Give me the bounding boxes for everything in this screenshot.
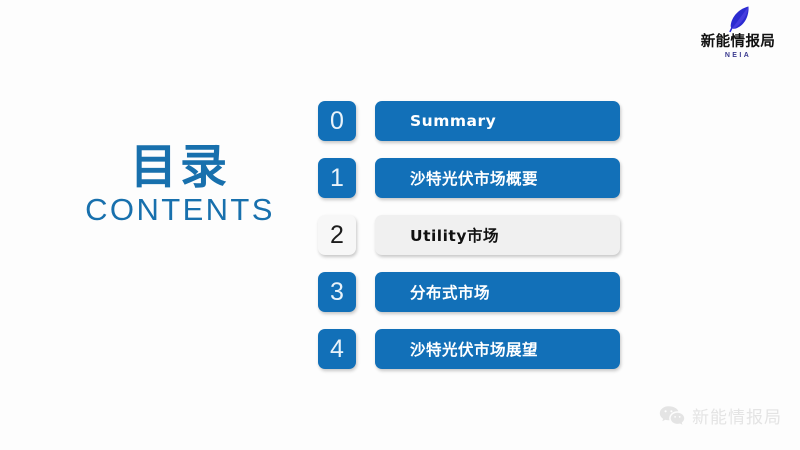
toc-label-4: 沙特光伏市场展望 xyxy=(375,338,538,360)
toc-number-1: 1 xyxy=(318,158,356,198)
toc-label-0: Summary xyxy=(375,112,496,130)
watermark-text: 新能情报局 xyxy=(692,403,782,428)
page-title-cn: 目录 xyxy=(60,143,300,192)
toc-label-1: 沙特光伏市场概要 xyxy=(375,167,538,189)
page-title-en: CONTENTS xyxy=(60,193,300,227)
brand-logo: 新能情报局 NEIA xyxy=(686,4,790,59)
toc-item-4[interactable]: 4 沙特光伏市场展望 xyxy=(318,329,620,369)
toc-item-2[interactable]: 2 Utility市场 xyxy=(318,215,620,255)
quill-feather-icon xyxy=(718,4,758,34)
page-title: 目录 CONTENTS xyxy=(60,143,300,227)
toc-bar-3[interactable]: 分布式市场 xyxy=(375,272,620,312)
toc-number-2: 2 xyxy=(318,215,356,255)
brand-name-cn: 新能情报局 xyxy=(686,35,790,50)
toc-item-1[interactable]: 1 沙特光伏市场概要 xyxy=(318,158,620,198)
toc-label-2: Utility市场 xyxy=(375,224,499,246)
brand-name-en: NEIA xyxy=(686,52,790,59)
toc-item-0[interactable]: 0 Summary xyxy=(318,101,620,141)
toc-item-3[interactable]: 3 分布式市场 xyxy=(318,272,620,312)
toc-number-4: 4 xyxy=(318,329,356,369)
toc-number-3: 3 xyxy=(318,272,356,312)
toc-bar-2[interactable]: Utility市场 xyxy=(375,215,620,255)
wechat-icon xyxy=(659,405,685,427)
watermark: 新能情报局 xyxy=(659,403,782,428)
toc-number-0: 0 xyxy=(318,101,356,141)
toc-bar-0[interactable]: Summary xyxy=(375,101,620,141)
toc-label-3: 分布式市场 xyxy=(375,281,490,303)
toc-bar-1[interactable]: 沙特光伏市场概要 xyxy=(375,158,620,198)
slide-canvas: 新能情报局 NEIA 目录 CONTENTS 0 Summary 1 沙特光伏市… xyxy=(0,0,800,450)
toc-bar-4[interactable]: 沙特光伏市场展望 xyxy=(375,329,620,369)
contents-list: 0 Summary 1 沙特光伏市场概要 2 Utility市场 3 分布式市场… xyxy=(318,101,620,369)
